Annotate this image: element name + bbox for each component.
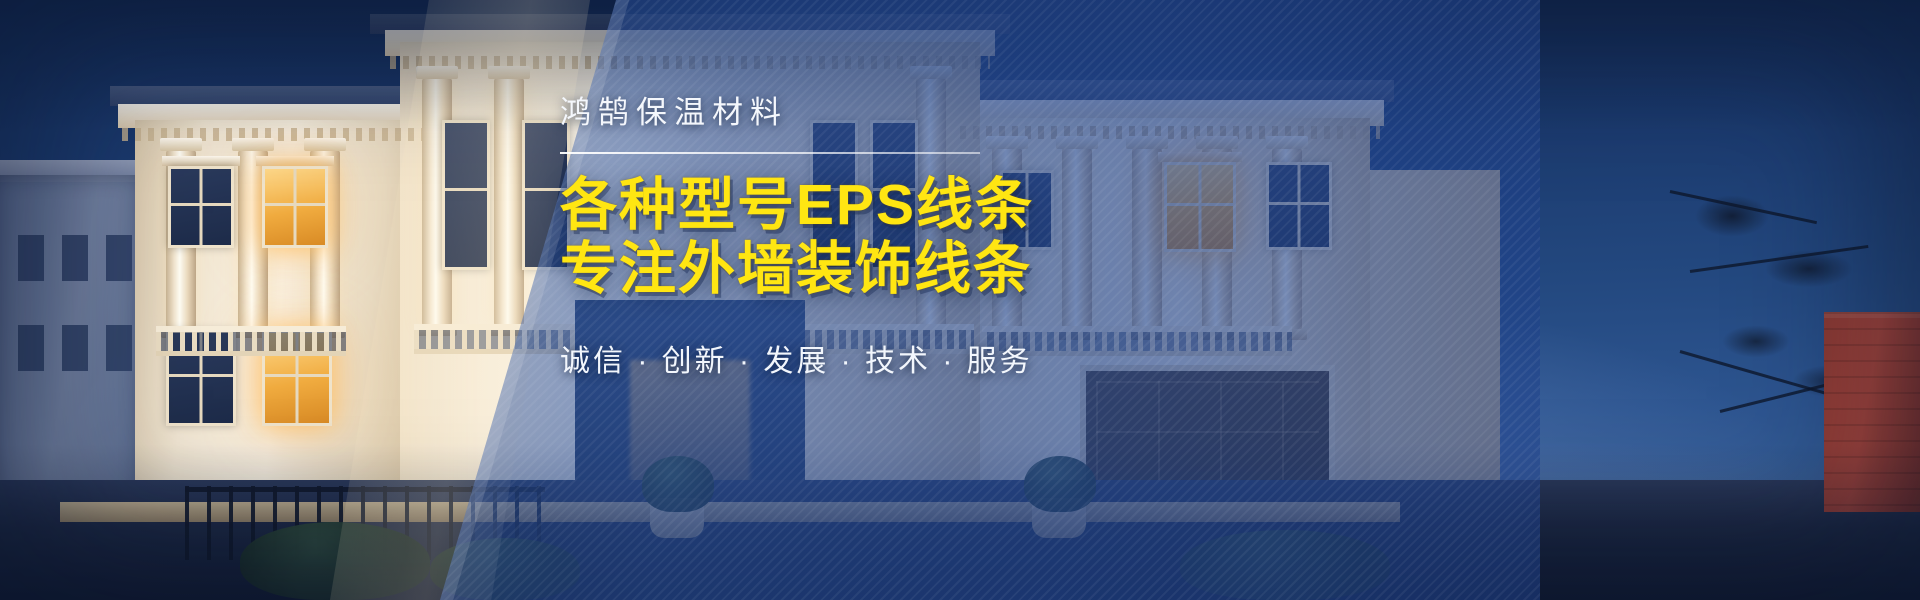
banner-copy-block: 鸿鹄保温材料 各种型号EPS线条 专注外墙装饰线条 诚信 · 创新 · 发展 ·… [560,96,1200,380]
headline: 各种型号EPS线条 专注外墙装饰线条 [560,174,1200,302]
brand-name: 鸿鹄保温材料 [560,96,1200,130]
tagline: 诚信 · 创新 · 发展 · 技术 · 服务 [560,336,1200,380]
headline-line-1: 各种型号EPS线条 [560,173,1034,237]
hero-banner: 鸿鹄保温材料 各种型号EPS线条 专注外墙装饰线条 诚信 · 创新 · 发展 ·… [0,0,1920,600]
headline-line-2: 专注外墙装饰线条 [560,238,1200,302]
divider-rule [560,152,980,154]
